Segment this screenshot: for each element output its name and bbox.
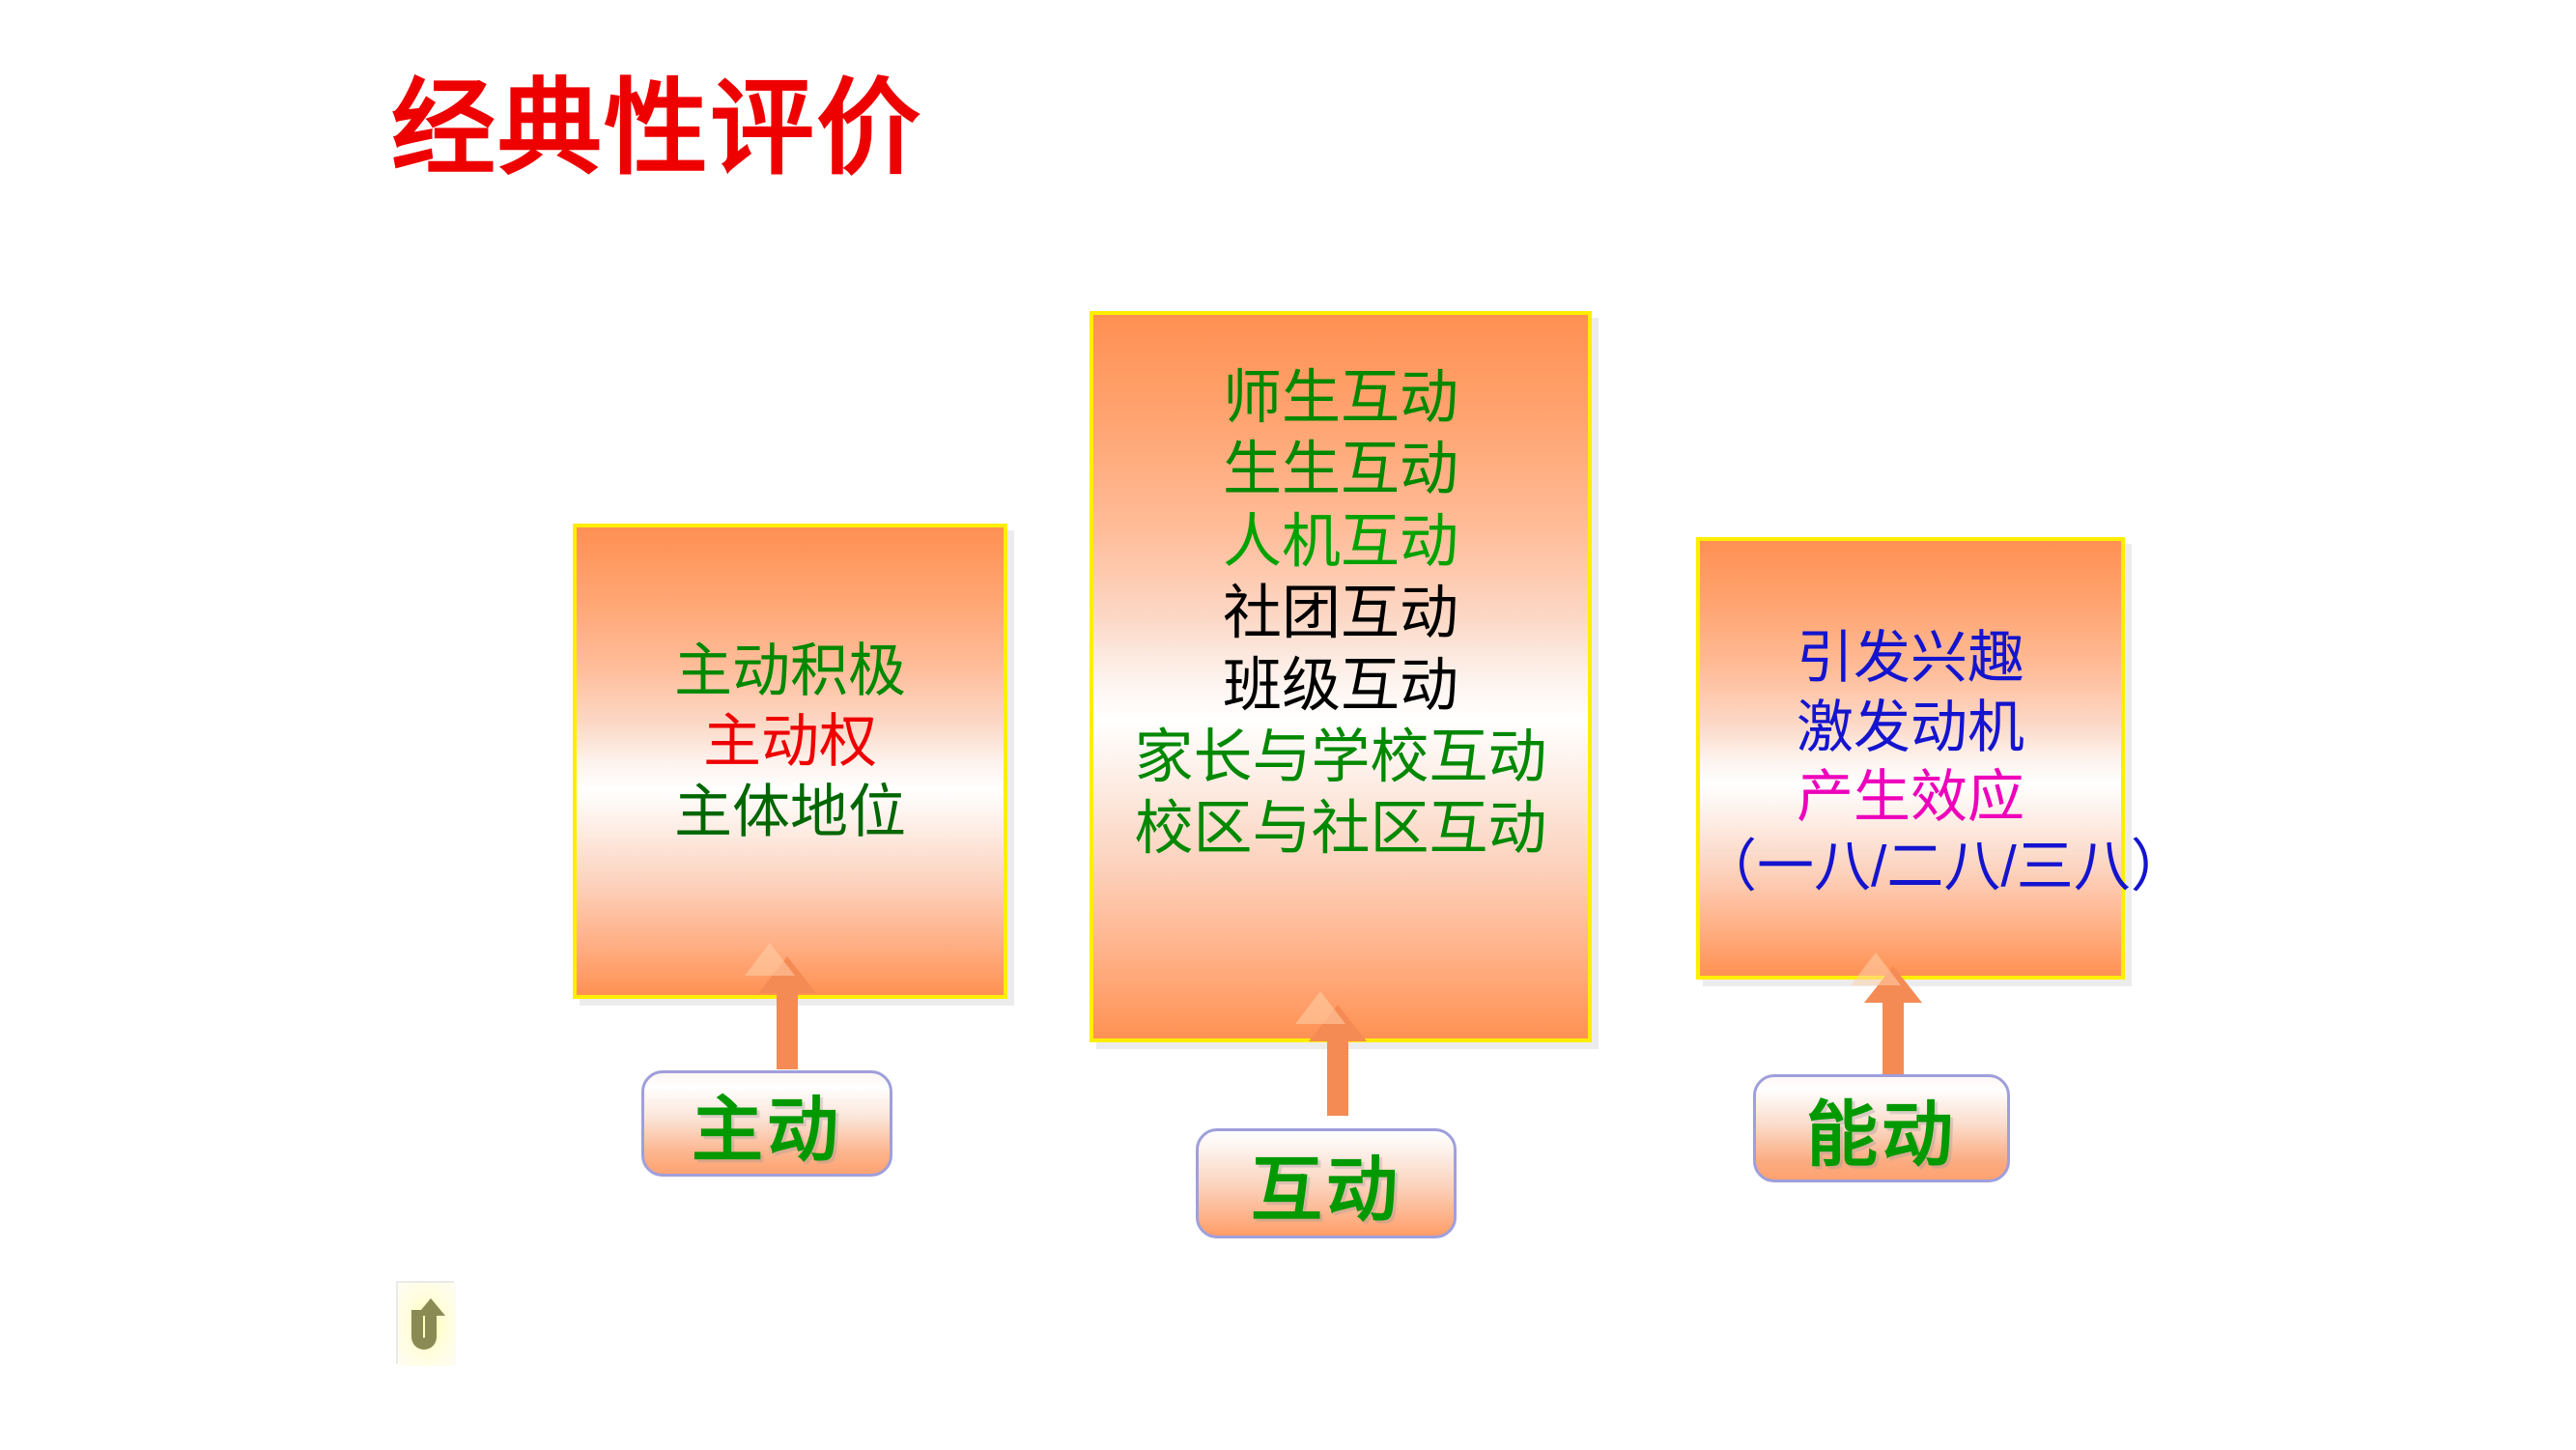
panel-interaction-lines: 师生互动 生生互动 人机互动 社团互动 班级互动 家长与学校互动 校区与社区互动 xyxy=(1093,361,1588,865)
slide-canvas: 经典性评价 主动积极 主动权 主体地位 师生互动 生生互动 人机互动 社团互动 … xyxy=(0,0,2576,1450)
panel-active-line-2: 主动权 xyxy=(577,706,1004,777)
panel-initiative-line-2: 激发动机 xyxy=(1700,694,2121,763)
panel-interaction-line-3: 人机互动 xyxy=(1093,505,1588,577)
arrow-shaft xyxy=(777,992,798,1069)
panel-interaction-line-6: 家长与学校互动 xyxy=(1093,721,1588,792)
panel-interaction: 师生互动 生生互动 人机互动 社团互动 班级互动 家长与学校互动 校区与社区互动 xyxy=(1090,311,1592,1042)
panel-interaction-line-5: 班级互动 xyxy=(1093,649,1588,721)
arrow-shaft xyxy=(1327,1040,1348,1116)
panel-active: 主动积极 主动权 主体地位 xyxy=(573,524,1007,999)
arrow-ghost-highlight xyxy=(1295,991,1345,1024)
up-arrow-icon-initiative xyxy=(1864,966,1922,1079)
panel-interaction-line-7: 校区与社区互动 xyxy=(1093,792,1588,864)
u-turn-arrow-icon[interactable] xyxy=(398,1283,456,1366)
callout-active: 主动 xyxy=(641,1070,892,1177)
panel-initiative-line-4: （一八/二八/三八） xyxy=(1700,833,2121,902)
panel-interaction-line-4: 社团互动 xyxy=(1093,577,1588,648)
panel-active-lines: 主动积极 主动权 主体地位 xyxy=(577,636,1004,848)
arrow-ghost-highlight xyxy=(1851,952,1901,985)
arrow-shaft xyxy=(1882,1002,1904,1079)
callout-initiative: 能动 xyxy=(1753,1074,2010,1182)
up-arrow-icon-interaction xyxy=(1309,1005,1367,1116)
up-arrow-icon-active xyxy=(758,956,816,1069)
arrow-ghost-highlight xyxy=(745,943,795,976)
panel-interaction-line-1: 师生互动 xyxy=(1093,361,1588,433)
panel-interaction-line-2: 生生互动 xyxy=(1093,433,1588,504)
page-title: 经典性评价 xyxy=(391,72,922,189)
panel-initiative-line-1: 引发兴趣 xyxy=(1700,624,2121,694)
panel-active-line-3: 主体地位 xyxy=(577,777,1004,847)
panel-initiative-lines: 引发兴趣 激发动机 产生效应 （一八/二八/三八） xyxy=(1700,624,2121,902)
callout-interaction: 互动 xyxy=(1196,1128,1457,1238)
panel-initiative: 引发兴趣 激发动机 产生效应 （一八/二八/三八） xyxy=(1696,537,2125,980)
panel-initiative-line-3: 产生效应 xyxy=(1700,763,2121,833)
panel-active-line-1: 主动积极 xyxy=(577,636,1004,706)
